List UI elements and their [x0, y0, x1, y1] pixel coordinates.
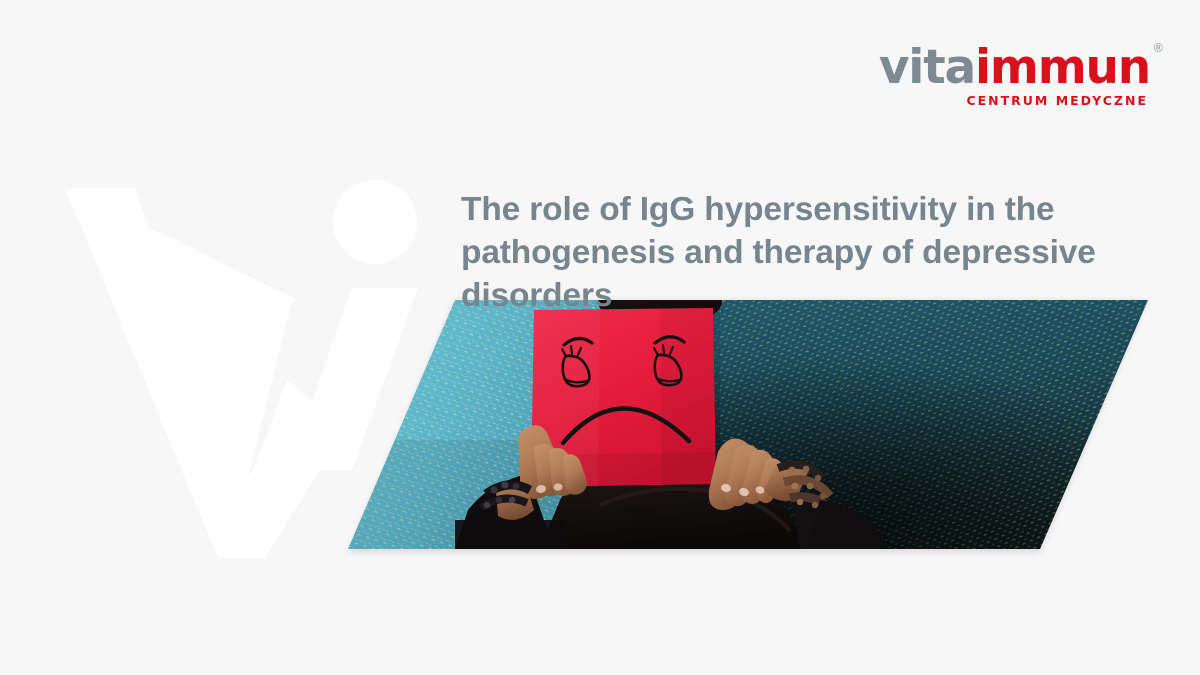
- left-hand: [481, 425, 587, 520]
- wall-left: [300, 290, 700, 565]
- logo-subtitle: CENTRUM MEDYCZNE: [879, 95, 1148, 108]
- torso-left: [455, 474, 554, 549]
- watermark-letter-i-stem: [288, 288, 418, 470]
- watermark-v-shape: [66, 188, 345, 558]
- logo-text-immun: immun: [975, 40, 1150, 95]
- registered-trademark-icon: ®: [1152, 42, 1163, 54]
- hero-shadow: [348, 300, 1148, 553]
- bracelet-left: [481, 481, 530, 508]
- wall-right: [640, 290, 1200, 565]
- red-paper: [531, 308, 716, 487]
- slide-canvas: The role of IgG hypersensitivity in the …: [0, 0, 1200, 675]
- hero-vignette: [640, 290, 1200, 565]
- logo-wordmark: vitaimmun®: [879, 44, 1150, 91]
- sad-face-drawing: [562, 337, 689, 443]
- right-hand: [709, 439, 836, 517]
- logo-text-vita: vita: [879, 40, 975, 95]
- hair-mass: [540, 456, 803, 549]
- watermark-letter-v: [68, 188, 298, 506]
- vitaimmun-logo[interactable]: vitaimmun® CENTRUM MEDYCZNE: [879, 44, 1150, 108]
- shoulder-right: [806, 500, 888, 549]
- torso-right: [790, 492, 872, 549]
- watermark-letter-i-dot: [333, 180, 417, 264]
- bracelet-right: [778, 465, 836, 516]
- page-title: The role of IgG hypersensitivity in the …: [461, 189, 1106, 318]
